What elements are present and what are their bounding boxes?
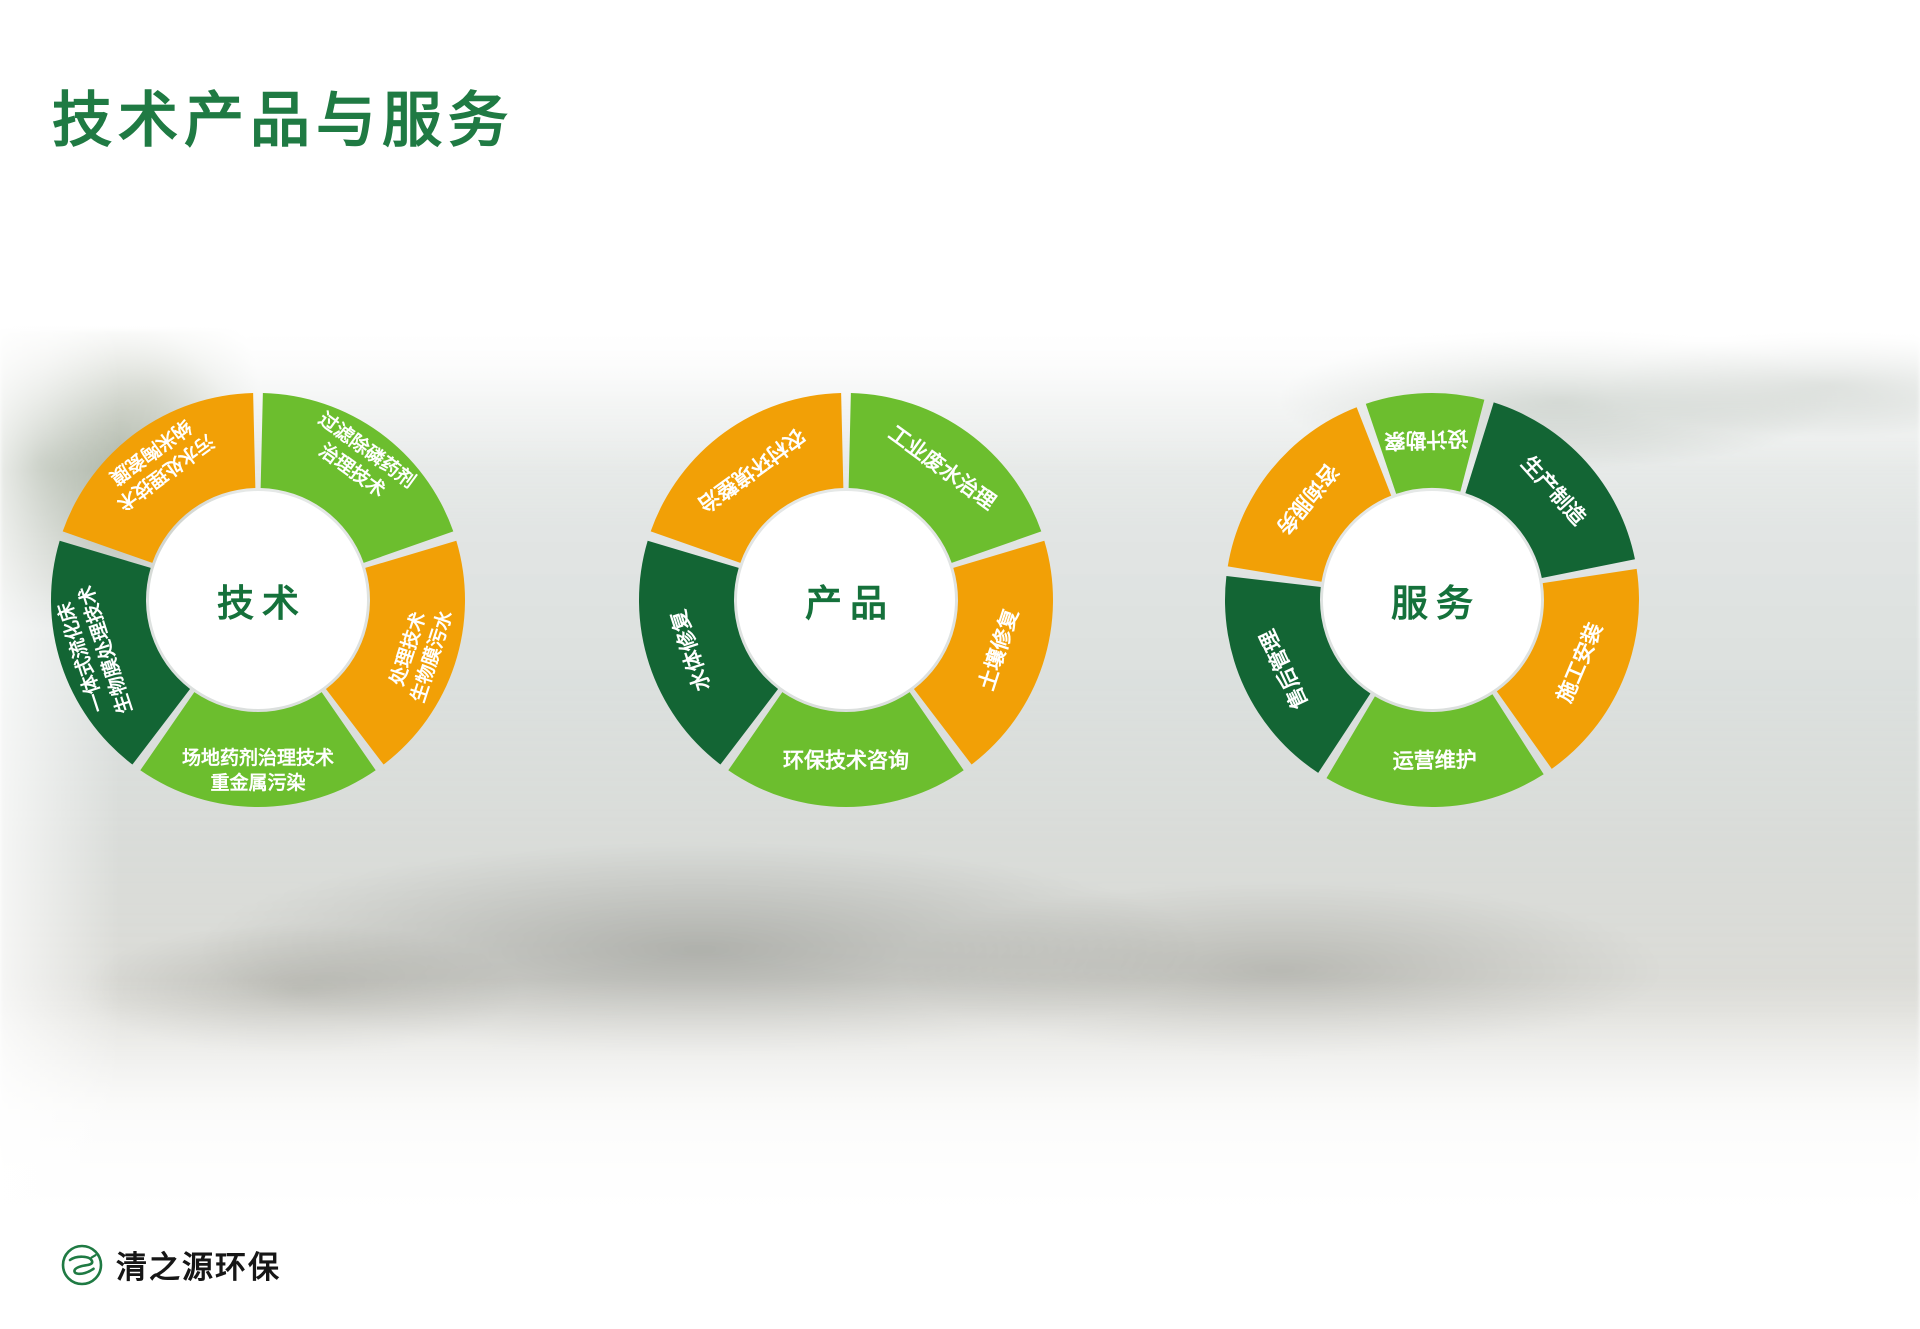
donut-segment[interactable]: 环保技术咨询 (728, 692, 963, 807)
donut-hub-technology: 技术 (149, 491, 367, 709)
donut-segment[interactable]: 重金属污染场地药剂治理技术 (140, 692, 375, 807)
segment-label: 环保技术咨询 (783, 749, 909, 773)
company-logo: 清之源环保 (60, 1242, 281, 1287)
segment-label: 重金属污染 (210, 771, 305, 794)
hub-label: 产品 (797, 573, 895, 627)
photo-bottom-fade (0, 980, 1920, 1280)
segment-label: 设计勘察 (1383, 426, 1469, 453)
donut-hub-product: 产品 (737, 491, 955, 709)
hub-label: 服务 (1383, 573, 1481, 627)
donut-chart-service: 生产制造施工安装运营维护售后管理咨询服务设计勘察服务 (1222, 390, 1642, 810)
donut-hub-service: 服务 (1323, 491, 1541, 709)
slide-title: 技术产品与服务 (52, 72, 514, 159)
swan-circle-logo-icon (60, 1243, 104, 1287)
logo-wordmark: 清之源环保 (116, 1242, 281, 1287)
donut-chart-technology: 过滤除磷药剂治理技术生物膜污水处理技术重金属污染场地药剂治理技术一体式流化床生物… (48, 390, 468, 810)
hub-label: 技术 (209, 573, 307, 627)
donut-chart-product: 工业废水治理土壤修复环保技术咨询水体修复农村环境整治产品 (636, 390, 1056, 810)
segment-label: 运营维护 (1393, 748, 1477, 773)
segment-label: 场地药剂治理技术 (182, 746, 334, 769)
